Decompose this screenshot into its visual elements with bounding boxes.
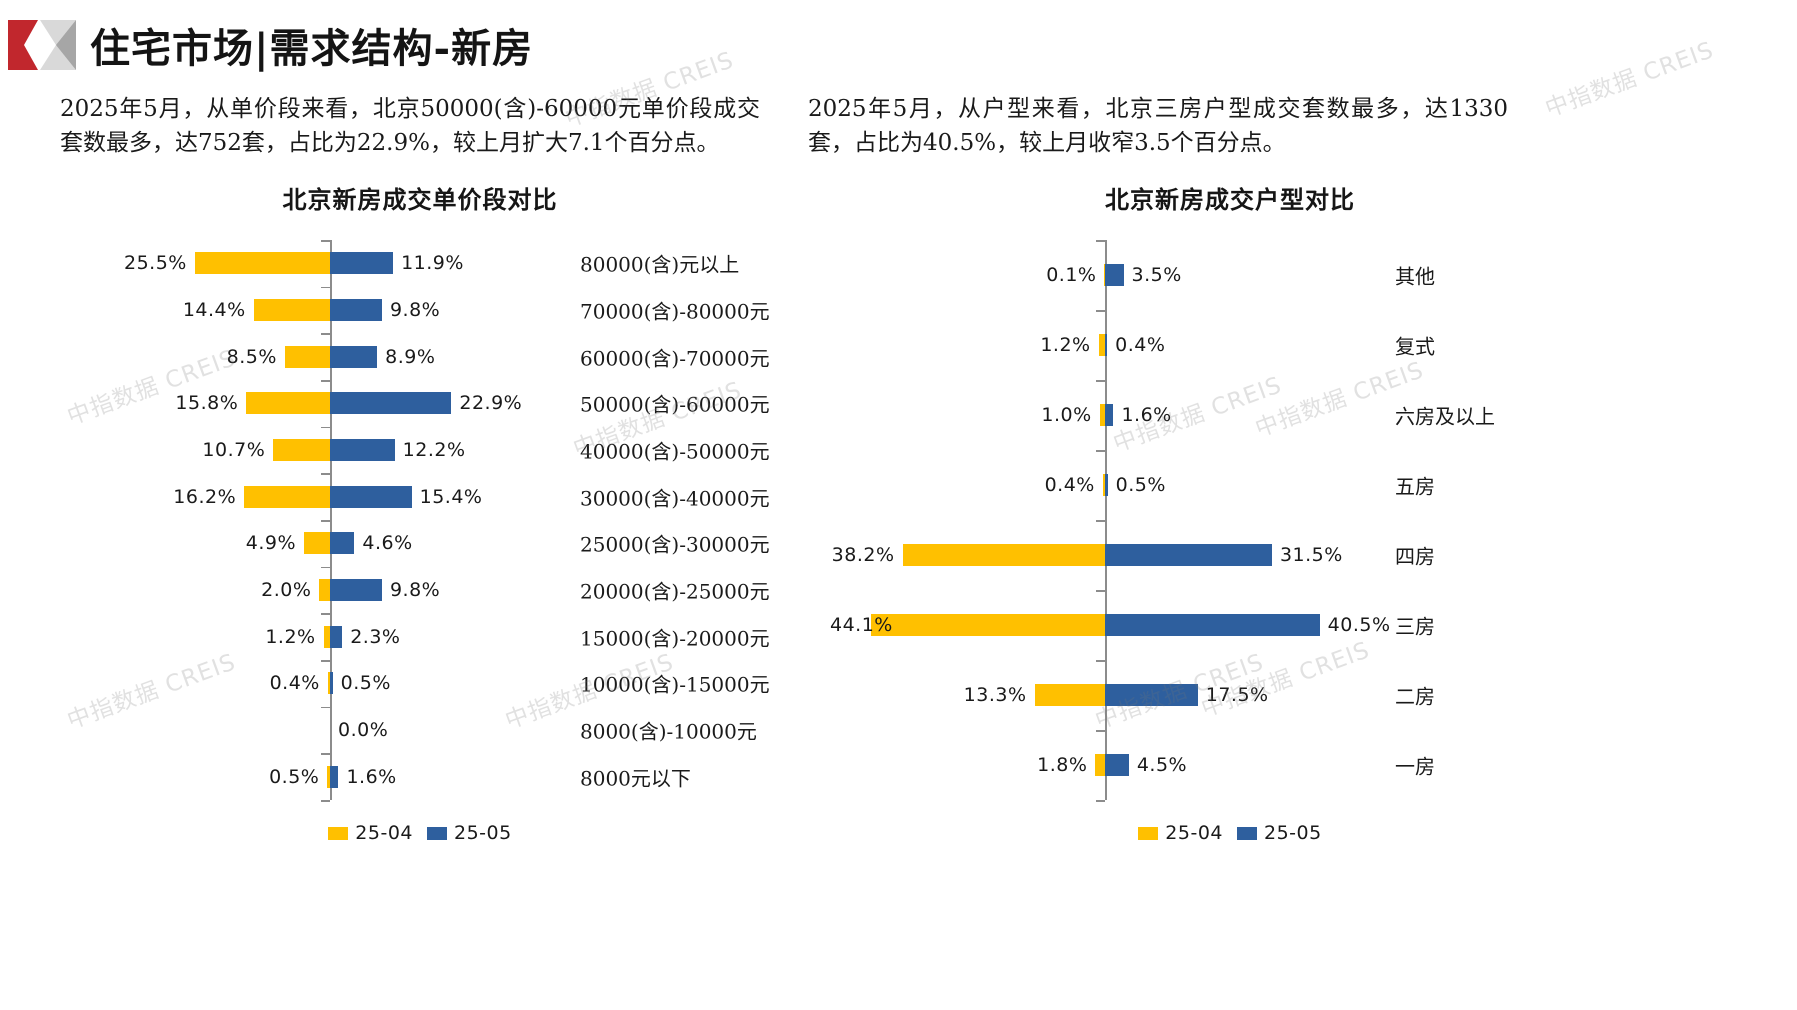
- bar-curr-month[interactable]: [330, 439, 395, 461]
- chart-row: 13.3%17.5%: [830, 660, 1630, 730]
- category-label: 80000(含)元以上: [580, 249, 739, 278]
- category-label: 其他: [1395, 261, 1435, 290]
- bar-value-label-prev: 1.8%: [830, 754, 1087, 776]
- bar-value-label-curr: 15.4%: [420, 486, 483, 508]
- bar-value-label-curr: 17.5%: [1206, 684, 1269, 706]
- legend-label-curr: 25-05: [454, 822, 512, 844]
- bar-value-label-curr: 4.6%: [362, 532, 412, 554]
- legend-label-prev: 25-04: [355, 822, 413, 844]
- bar-value-label-prev: 1.2%: [830, 334, 1091, 356]
- bar-value-label-curr: 12.2%: [403, 439, 466, 461]
- axis-tick: [1096, 520, 1105, 522]
- bar-curr-month[interactable]: [330, 672, 333, 694]
- axis-tick: [321, 380, 330, 382]
- bar-value-label-prev: 0.1%: [830, 264, 1096, 286]
- chart-panel-unit-type: 北京新房成交户型对比 0.1%3.5%其他1.2%0.4%复式1.0%1.6%六…: [830, 170, 1630, 850]
- axis-tick: [321, 660, 330, 662]
- axis-tick: [1096, 310, 1105, 312]
- chart-title-unit-type: 北京新房成交户型对比: [830, 180, 1630, 215]
- category-label: 8000元以下: [580, 762, 691, 791]
- category-label: 25000(含)-30000元: [580, 529, 770, 558]
- page-title: 住宅市场|需求结构-新房: [90, 16, 533, 74]
- bar-value-label-prev: 15.8%: [20, 392, 238, 414]
- legend-swatch-prev: [1138, 827, 1158, 840]
- chart-row: 38.2%31.5%: [830, 520, 1630, 590]
- bar-value-label-curr: 31.5%: [1280, 544, 1343, 566]
- creis-logo-icon: [8, 20, 76, 70]
- page-header: 住宅市场|需求结构-新房: [0, 8, 1797, 80]
- axis-tick: [321, 427, 330, 429]
- legend-unit-price: 25-04 25-05: [20, 822, 820, 844]
- bar-prev-month[interactable]: [254, 299, 330, 321]
- bar-value-label-prev: 1.2%: [20, 626, 316, 648]
- summary-text-unit-type: 2025年5月，从户型来看，北京三房户型成交套数最多，达1330套，占比为40.…: [808, 92, 1508, 160]
- axis-tick: [321, 287, 330, 289]
- bar-prev-month[interactable]: [903, 544, 1105, 566]
- legend-swatch-curr: [1237, 827, 1257, 840]
- chart-row: 1.2%0.4%: [830, 310, 1630, 380]
- axis-tick: [321, 473, 330, 475]
- chart-row: 0.1%3.5%: [830, 240, 1630, 310]
- axis-tick: [321, 240, 330, 242]
- bar-value-label-curr: 11.9%: [401, 252, 464, 274]
- category-label: 60000(含)-70000元: [580, 342, 770, 371]
- category-label: 六房及以上: [1395, 401, 1495, 430]
- bar-prev-month[interactable]: [304, 532, 330, 554]
- bar-value-label-curr: 8.9%: [385, 346, 435, 368]
- axis-tick: [1096, 450, 1105, 452]
- bar-value-label-curr: 1.6%: [346, 766, 396, 788]
- category-label: 70000(含)-80000元: [580, 296, 770, 325]
- bar-value-label-curr: 0.5%: [341, 672, 391, 694]
- bar-prev-month[interactable]: [244, 486, 330, 508]
- category-label: 一房: [1395, 751, 1435, 780]
- bar-prev-month[interactable]: [1095, 754, 1105, 776]
- bar-curr-month[interactable]: [330, 532, 354, 554]
- bar-curr-month[interactable]: [1105, 264, 1124, 286]
- axis-tick: [321, 800, 330, 802]
- legend-item-curr[interactable]: 25-05: [1237, 822, 1322, 844]
- category-label: 15000(含)-20000元: [580, 622, 770, 651]
- bar-value-label-prev: 0.4%: [830, 474, 1095, 496]
- bar-value-label-prev: 38.2%: [830, 544, 895, 566]
- legend-unit-type: 25-04 25-05: [830, 822, 1630, 844]
- bar-curr-month[interactable]: [330, 626, 342, 648]
- bar-curr-month[interactable]: [330, 299, 382, 321]
- category-label: 二房: [1395, 681, 1435, 710]
- bar-value-label-prev: 4.9%: [20, 532, 296, 554]
- bar-value-label-curr: 4.5%: [1137, 754, 1187, 776]
- category-label: 40000(含)-50000元: [580, 436, 770, 465]
- axis-tick: [1096, 800, 1105, 802]
- legend-label-prev: 25-04: [1165, 822, 1223, 844]
- axis-tick: [321, 567, 330, 569]
- bar-curr-month[interactable]: [1105, 474, 1108, 496]
- axis-tick: [321, 753, 330, 755]
- bar-curr-month[interactable]: [1105, 754, 1129, 776]
- bar-value-label-curr: 22.9%: [459, 392, 522, 414]
- legend-swatch-curr: [427, 827, 447, 840]
- axis-tick: [321, 707, 330, 709]
- axis-tick: [321, 333, 330, 335]
- category-label: 20000(含)-25000元: [580, 576, 770, 605]
- category-label: 复式: [1395, 331, 1435, 360]
- bar-value-label-curr: 0.0%: [338, 719, 388, 741]
- bar-curr-month[interactable]: [330, 486, 412, 508]
- bar-curr-month[interactable]: [1105, 404, 1113, 426]
- slide-page: 住宅市场|需求结构-新房 2025年5月，从单价段来看，北京50000(含)-6…: [0, 0, 1797, 1010]
- bar-value-label-curr: 0.5%: [1116, 474, 1166, 496]
- bar-prev-month[interactable]: [273, 439, 330, 461]
- plot-area-unit-type: 0.1%3.5%其他1.2%0.4%复式1.0%1.6%六房及以上0.4%0.5…: [830, 240, 1630, 800]
- category-label: 三房: [1395, 611, 1435, 640]
- bar-value-label-prev: 14.4%: [20, 299, 246, 321]
- bar-value-label-curr: 40.5%: [1328, 614, 1391, 636]
- legend-label-curr: 25-05: [1264, 822, 1322, 844]
- plot-area-unit-price: 25.5%11.9%80000(含)元以上14.4%9.8%70000(含)-8…: [20, 240, 820, 800]
- bar-curr-month[interactable]: [330, 392, 451, 414]
- chart-row: 1.0%1.6%: [830, 380, 1630, 450]
- bar-curr-month[interactable]: [1105, 614, 1320, 636]
- bar-value-label-prev: 8.5%: [20, 346, 277, 368]
- bar-value-label-curr: 0.4%: [1115, 334, 1165, 356]
- bar-curr-month[interactable]: [1105, 334, 1107, 356]
- summary-text-unit-price: 2025年5月，从单价段来看，北京50000(含)-60000元单价段成交套数最…: [60, 92, 760, 160]
- bar-value-label-prev: 10.7%: [20, 439, 265, 461]
- bar-curr-month[interactable]: [330, 766, 338, 788]
- bar-value-label-prev: 2.0%: [20, 579, 311, 601]
- axis-tick: [1096, 660, 1105, 662]
- bar-prev-month[interactable]: [195, 252, 330, 274]
- bar-prev-month[interactable]: [871, 614, 1105, 636]
- bar-value-label-prev: 0.4%: [20, 672, 320, 694]
- category-label: 四房: [1395, 541, 1435, 570]
- category-label: 10000(含)-15000元: [580, 669, 770, 698]
- category-label: 五房: [1395, 471, 1435, 500]
- chart-title-unit-price: 北京新房成交单价段对比: [20, 180, 820, 215]
- bar-value-label-curr: 2.3%: [350, 626, 400, 648]
- axis-tick: [1096, 240, 1105, 242]
- bar-curr-month[interactable]: [1105, 544, 1272, 566]
- legend-swatch-prev: [328, 827, 348, 840]
- bar-value-label-prev: 0.5%: [20, 766, 319, 788]
- axis-tick: [1096, 730, 1105, 732]
- bar-curr-month[interactable]: [330, 346, 377, 368]
- bar-value-label-prev: 44.1%: [830, 614, 863, 636]
- legend-item-prev[interactable]: 25-04: [1138, 822, 1223, 844]
- bar-value-label-prev: 1.0%: [830, 404, 1092, 426]
- axis-tick: [1096, 590, 1105, 592]
- bar-value-label-curr: 9.8%: [390, 299, 440, 321]
- legend-item-curr[interactable]: 25-05: [427, 822, 512, 844]
- axis-tick: [321, 520, 330, 522]
- bar-value-label-curr: 9.8%: [390, 579, 440, 601]
- category-label: 30000(含)-40000元: [580, 482, 770, 511]
- bar-prev-month[interactable]: [319, 579, 330, 601]
- bar-value-label-prev: 16.2%: [20, 486, 236, 508]
- legend-item-prev[interactable]: 25-04: [328, 822, 413, 844]
- bar-value-label-curr: 3.5%: [1132, 264, 1182, 286]
- chart-panel-unit-price: 北京新房成交单价段对比 25.5%11.9%80000(含)元以上14.4%9.…: [20, 170, 820, 850]
- axis-tick: [1096, 380, 1105, 382]
- bar-curr-month[interactable]: [1105, 684, 1198, 706]
- chart-row: 44.1%40.5%: [830, 590, 1630, 660]
- bar-curr-month[interactable]: [330, 252, 393, 274]
- bar-value-label-prev: 25.5%: [20, 252, 187, 274]
- bar-curr-month[interactable]: [330, 579, 382, 601]
- chart-row: 0.4%0.5%: [830, 450, 1630, 520]
- bar-prev-month[interactable]: [285, 346, 330, 368]
- bar-prev-month[interactable]: [246, 392, 330, 414]
- bar-prev-month[interactable]: [1035, 684, 1105, 706]
- chart-row: 1.8%4.5%: [830, 730, 1630, 800]
- category-label: 50000(含)-60000元: [580, 389, 770, 418]
- chart-row: 0.5%1.6%: [20, 753, 820, 800]
- bar-value-label-curr: 1.6%: [1121, 404, 1171, 426]
- category-label: 8000(含)-10000元: [580, 716, 757, 745]
- axis-tick: [321, 613, 330, 615]
- bar-value-label-prev: 13.3%: [830, 684, 1027, 706]
